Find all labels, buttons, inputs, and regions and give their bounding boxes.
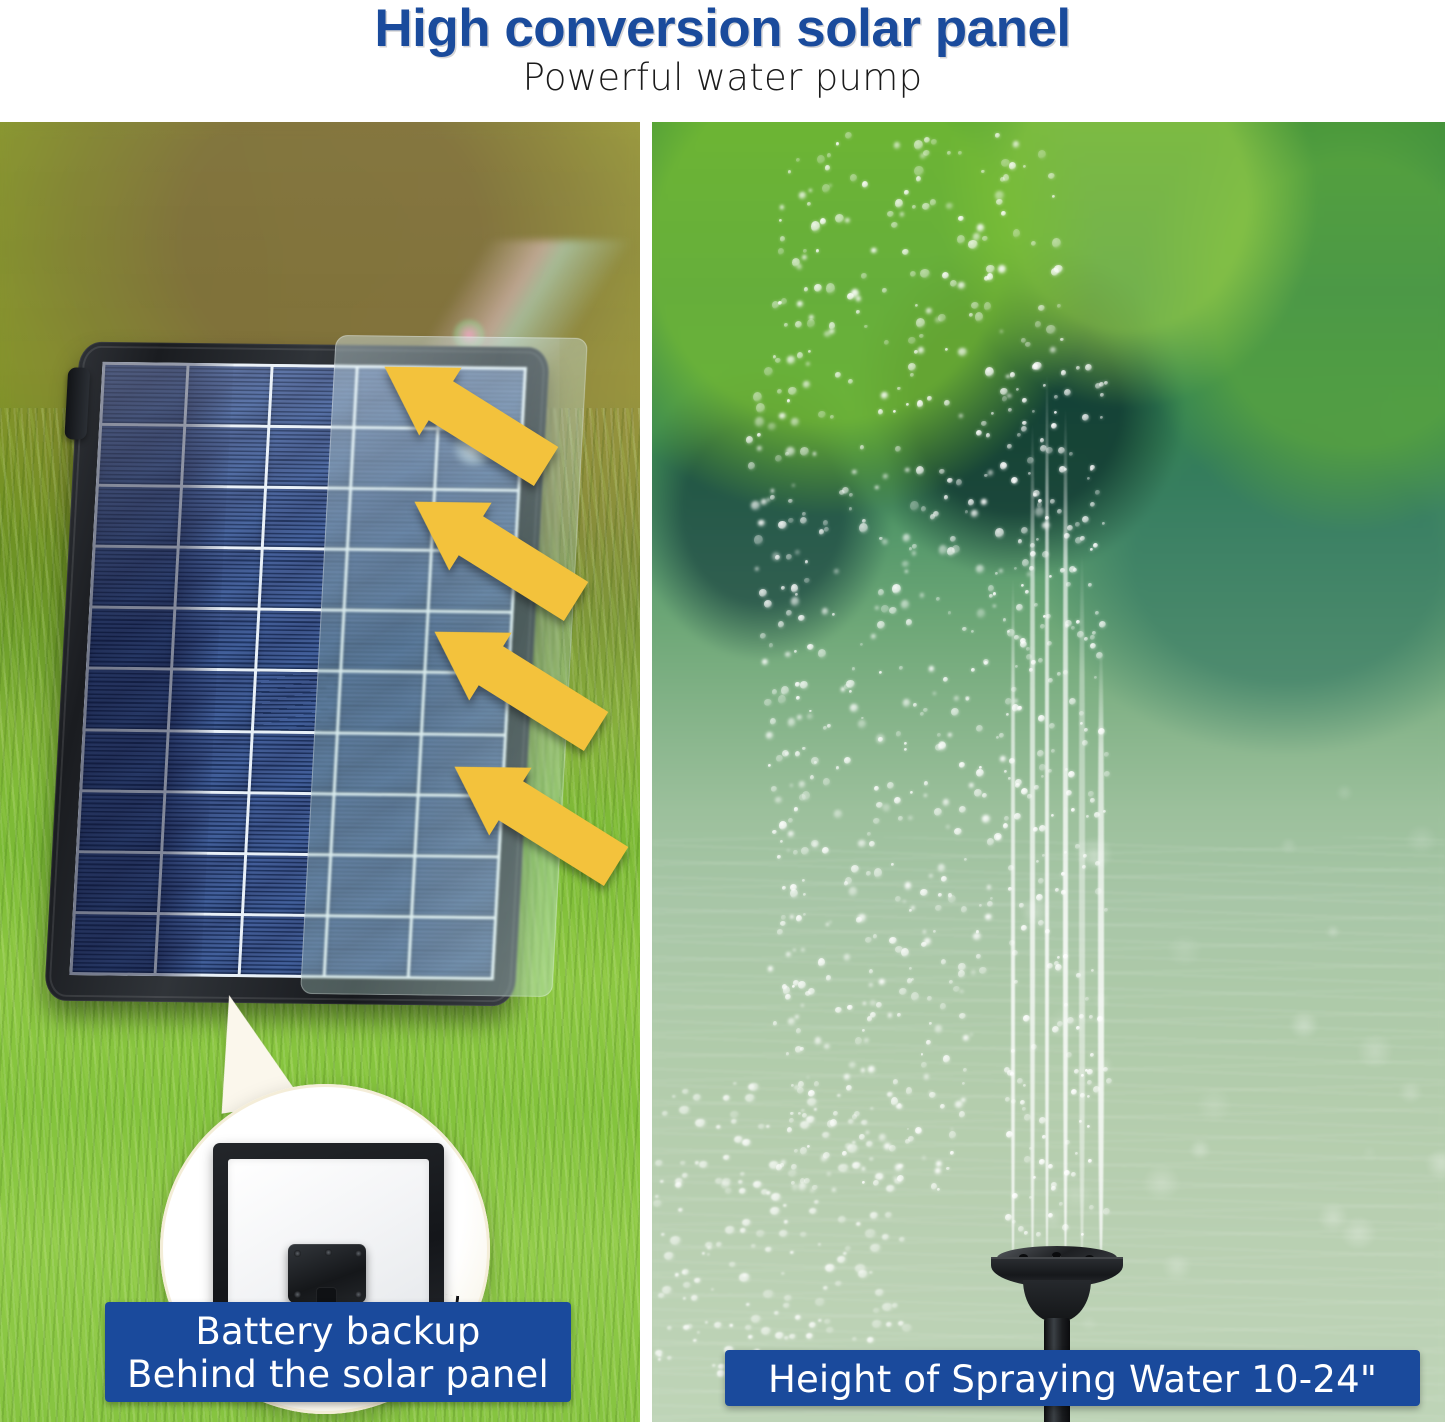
- water-droplet-icon: [849, 1062, 856, 1068]
- water-droplet-icon: [1094, 812, 1100, 818]
- water-droplet-icon: [772, 301, 779, 309]
- water-droplet-icon: [989, 594, 993, 598]
- water-droplet-icon: [849, 493, 853, 497]
- water-droplet-icon: [754, 535, 763, 545]
- water-droplet-icon: [985, 367, 994, 377]
- water-droplet-icon: [1060, 338, 1064, 341]
- water-droplet-icon: [976, 725, 983, 732]
- water-droplet-icon: [908, 363, 916, 371]
- water-droplet-icon: [968, 240, 978, 249]
- water-droplet-icon: [756, 403, 765, 413]
- water-droplet-icon: [950, 536, 956, 542]
- water-droplet-icon: [839, 490, 845, 495]
- water-droplet-icon: [1009, 162, 1016, 170]
- water-droplet-icon: [823, 778, 830, 786]
- page-subtitle: Powerful water pump: [0, 56, 1445, 99]
- water-droplet-icon: [976, 954, 981, 959]
- water-droplet-icon: [788, 387, 797, 395]
- header: High conversion solar panel Powerful wat…: [0, 0, 1445, 122]
- water-droplet-icon: [852, 1162, 861, 1169]
- water-droplet-icon: [814, 284, 822, 292]
- water-droplet-icon: [1003, 823, 1008, 829]
- water-droplet-icon: [788, 170, 791, 174]
- water-droplet-icon: [1057, 672, 1061, 676]
- solar-cell: [173, 610, 257, 669]
- water-droplet-icon: [929, 1091, 932, 1094]
- water-droplet-icon: [986, 433, 990, 438]
- water-droplet-icon: [759, 589, 767, 597]
- bokeh-highlight-icon: [1289, 1012, 1319, 1038]
- water-droplet-icon: [1000, 388, 1008, 395]
- water-droplet-icon: [912, 205, 916, 209]
- water-droplet-icon: [954, 696, 959, 701]
- water-droplet-icon: [952, 545, 960, 554]
- water-droplet-icon: [873, 1308, 880, 1313]
- water-droplet-icon: [1057, 509, 1062, 514]
- water-droplet-icon: [803, 913, 806, 916]
- water-droplet-icon: [866, 871, 871, 876]
- water-droplet-icon: [768, 966, 773, 972]
- water-droplet-icon: [807, 714, 813, 719]
- water-droplet-icon: [864, 325, 868, 328]
- water-droplet-icon: [1051, 268, 1059, 276]
- water-droplet-icon: [1065, 768, 1068, 771]
- water-droplet-icon: [835, 372, 841, 378]
- water-droplet-icon: [963, 1035, 969, 1041]
- water-droplet-icon: [694, 1278, 701, 1283]
- water-droplet-icon: [1021, 338, 1026, 343]
- water-droplet-icon: [855, 1037, 862, 1045]
- water-droplet-icon: [908, 816, 913, 820]
- water-droplet-icon: [906, 403, 909, 406]
- water-droplet-icon: [929, 666, 934, 672]
- solar-cell: [163, 793, 247, 852]
- water-droplet-icon: [810, 775, 814, 780]
- water-droplet-icon: [934, 808, 942, 816]
- water-droplet-icon: [930, 514, 935, 520]
- solar-cell: [79, 792, 163, 851]
- water-droplet-icon: [773, 355, 776, 359]
- water-droplet-icon: [785, 994, 791, 1000]
- water-droplet-icon: [965, 696, 970, 701]
- water-droplet-icon: [961, 906, 967, 913]
- water-droplet-icon: [914, 166, 924, 176]
- water-droplet-icon: [982, 236, 988, 241]
- water-droplet-icon: [937, 1188, 940, 1191]
- water-droplet-icon: [1042, 1135, 1046, 1139]
- water-droplet-icon: [993, 605, 996, 607]
- water-droplet-icon: [788, 818, 793, 823]
- water-droplet-icon: [1023, 165, 1026, 168]
- water-droplet-icon: [738, 1180, 743, 1184]
- water-droplet-icon: [996, 736, 999, 739]
- water-droplet-icon: [691, 1295, 698, 1301]
- water-droplet-icon: [837, 1256, 846, 1263]
- water-droplet-icon: [947, 478, 953, 483]
- water-droplet-icon: [929, 874, 933, 878]
- water-droplet-icon: [814, 1108, 817, 1111]
- water-droplet-icon: [780, 840, 783, 843]
- water-droplet-icon: [850, 704, 858, 712]
- water-droplet-icon: [782, 984, 787, 990]
- water-droplet-icon: [1102, 522, 1105, 525]
- water-droplet-icon: [936, 597, 940, 601]
- water-droplet-icon: [800, 681, 808, 689]
- water-droplet-icon: [865, 1229, 876, 1238]
- water-droplet-icon: [755, 417, 764, 427]
- water-droplet-icon: [970, 1033, 973, 1036]
- water-droplet-icon: [1028, 472, 1031, 475]
- water-droplet-icon: [858, 1270, 868, 1278]
- water-droplet-icon: [830, 1119, 837, 1127]
- water-droplet-icon: [960, 990, 964, 993]
- water-droplet-icon: [788, 518, 794, 523]
- water-droplet-icon: [1040, 624, 1045, 629]
- water-droplet-icon: [795, 1015, 799, 1019]
- water-droplet-icon: [984, 302, 991, 311]
- water-droplet-icon: [803, 893, 806, 896]
- water-droplet-icon: [1088, 583, 1092, 587]
- water-droplet-icon: [953, 986, 960, 992]
- water-droplet-icon: [818, 958, 825, 967]
- water-droplet-icon: [801, 1004, 804, 1007]
- water-droplet-icon: [924, 781, 928, 786]
- page-title: High conversion solar panel: [0, 0, 1445, 59]
- water-droplet-icon: [812, 841, 818, 848]
- water-droplet-icon: [1077, 631, 1084, 638]
- water-droplet-icon: [847, 1005, 853, 1010]
- water-droplet-icon: [793, 949, 796, 951]
- water-droplet-icon: [1021, 426, 1027, 432]
- water-droplet-icon: [964, 858, 967, 861]
- water-droplet-icon: [1039, 1159, 1045, 1165]
- water-droplet-icon: [772, 689, 777, 695]
- water-droplet-icon: [871, 634, 876, 639]
- water-droplet-icon: [982, 793, 987, 798]
- water-droplet-icon: [800, 447, 809, 456]
- water-droplet-icon: [790, 889, 798, 898]
- water-droplet-icon: [795, 751, 800, 757]
- water-droplet-icon: [793, 850, 798, 855]
- water-droplet-icon: [984, 474, 988, 477]
- water-droplet-icon: [1000, 462, 1007, 470]
- water-droplet-icon: [751, 1315, 761, 1323]
- water-droplet-icon: [933, 692, 936, 695]
- water-droplet-icon: [1035, 507, 1044, 517]
- water-jet-stream: [1079, 552, 1086, 1250]
- water-droplet-icon: [807, 319, 815, 328]
- water-droplet-icon: [924, 137, 930, 143]
- water-droplet-icon: [879, 1134, 886, 1141]
- water-droplet-icon: [944, 400, 950, 406]
- water-droplet-icon: [963, 1068, 967, 1072]
- water-droplet-icon: [807, 1076, 809, 1079]
- water-droplet-icon: [1038, 878, 1044, 884]
- water-droplet-icon: [999, 569, 1003, 573]
- water-droplet-icon: [1042, 551, 1049, 558]
- fountain-nozzle: [991, 1246, 1123, 1286]
- water-droplet-icon: [761, 499, 767, 505]
- water-droplet-icon: [805, 560, 808, 564]
- water-droplet-icon: [749, 1083, 759, 1091]
- bokeh-highlight-icon: [1356, 1035, 1394, 1067]
- water-droplet-icon: [801, 948, 805, 952]
- water-droplet-icon: [809, 1322, 816, 1328]
- water-droplet-icon: [1046, 325, 1056, 334]
- water-droplet-icon: [1007, 394, 1012, 398]
- water-droplet-icon: [697, 1331, 700, 1334]
- water-droplet-icon: [799, 781, 805, 788]
- water-droplet-icon: [778, 695, 786, 704]
- bokeh-highlight-icon: [1162, 1254, 1192, 1280]
- water-droplet-icon: [982, 815, 990, 823]
- water-droplet-icon: [807, 1145, 810, 1148]
- water-droplet-icon: [940, 1003, 946, 1010]
- water-droplet-icon: [878, 409, 883, 415]
- water-droplet-icon: [781, 586, 785, 590]
- water-droplet-icon: [805, 991, 811, 996]
- water-droplet-icon: [888, 1013, 892, 1018]
- water-droplet-icon: [730, 1111, 739, 1118]
- water-droplet-icon: [1029, 668, 1033, 672]
- water-droplet-icon: [1018, 539, 1022, 544]
- water-droplet-icon: [876, 1002, 882, 1008]
- water-droplet-icon: [897, 1013, 901, 1017]
- water-droplet-icon: [817, 155, 825, 164]
- water-droplet-icon: [1034, 785, 1039, 790]
- water-droplet-icon: [1097, 1016, 1103, 1022]
- water-droplet-icon: [976, 565, 984, 573]
- water-droplet-icon: [893, 410, 896, 413]
- water-droplet-icon: [841, 687, 845, 692]
- water-droplet-icon: [830, 415, 834, 419]
- water-droplet-icon: [797, 301, 803, 307]
- water-droplet-icon: [780, 921, 786, 926]
- water-droplet-icon: [806, 1116, 815, 1123]
- water-droplet-icon: [871, 248, 877, 253]
- water-droplet-icon: [795, 1315, 801, 1320]
- water-droplet-icon: [829, 322, 835, 330]
- water-droplet-icon: [1069, 452, 1073, 456]
- water-droplet-icon: [911, 978, 914, 981]
- water-droplet-icon: [1054, 961, 1059, 966]
- water-droplet-icon: [988, 470, 993, 476]
- water-droplet-icon: [662, 1111, 668, 1116]
- screw-icon: [355, 1250, 362, 1257]
- water-droplet-icon: [1087, 1069, 1093, 1075]
- water-droplet-icon: [781, 915, 786, 920]
- water-droplet-icon: [962, 1082, 965, 1085]
- solar-cell: [170, 671, 254, 730]
- water-droplet-icon: [905, 1139, 910, 1144]
- water-droplet-icon: [1031, 241, 1036, 246]
- water-droplet-icon: [829, 921, 832, 923]
- water-droplet-icon: [834, 810, 842, 818]
- water-droplet-icon: [882, 1303, 893, 1311]
- water-droplet-icon: [864, 1038, 869, 1043]
- water-droplet-icon: [951, 1128, 953, 1130]
- water-droplet-icon: [788, 499, 793, 503]
- water-droplet-icon: [920, 593, 924, 598]
- water-droplet-icon: [1021, 925, 1027, 931]
- water-droplet-icon: [670, 1236, 681, 1245]
- water-droplet-icon: [1005, 1214, 1012, 1221]
- water-droplet-icon: [779, 413, 786, 419]
- water-droplet-icon: [714, 1322, 722, 1328]
- water-droplet-icon: [849, 507, 852, 511]
- water-droplet-icon: [862, 1167, 865, 1171]
- water-droplet-icon: [849, 887, 857, 896]
- water-droplet-icon: [899, 666, 903, 670]
- water-droplet-icon: [787, 849, 790, 852]
- water-droplet-icon: [893, 1079, 898, 1085]
- water-droplet-icon: [785, 652, 791, 657]
- water-droplet-icon: [807, 1098, 817, 1106]
- water-droplet-icon: [1038, 305, 1045, 311]
- solar-cell: [160, 854, 244, 913]
- water-droplet-icon: [1090, 798, 1095, 803]
- bokeh-highlight-icon: [1195, 1089, 1233, 1121]
- water-droplet-icon: [803, 249, 807, 253]
- water-droplet-icon: [775, 358, 781, 363]
- water-droplet-icon: [770, 718, 776, 725]
- water-droplet-icon: [1086, 815, 1089, 818]
- water-droplet-icon: [957, 235, 965, 244]
- caption-line-1: Battery backup: [105, 1310, 571, 1353]
- water-droplet-icon: [1036, 894, 1043, 901]
- water-droplet-icon: [875, 1173, 884, 1180]
- water-droplet-icon: [922, 203, 930, 210]
- water-droplet-icon: [975, 312, 983, 322]
- water-droplet-icon: [658, 1293, 665, 1298]
- water-droplet-icon: [801, 847, 809, 855]
- water-droplet-icon: [1031, 660, 1036, 665]
- water-droplet-icon: [822, 608, 828, 615]
- water-droplet-icon: [995, 572, 998, 575]
- water-droplet-icon: [1022, 398, 1027, 403]
- water-droplet-icon: [672, 1095, 676, 1098]
- water-droplet-icon: [1082, 516, 1089, 523]
- product-feature-image: High conversion solar panel Powerful wat…: [0, 0, 1445, 1422]
- water-droplet-icon: [969, 783, 974, 788]
- water-droplet-icon: [993, 592, 996, 596]
- water-droplet-icon: [799, 794, 806, 801]
- water-droplet-icon: [786, 1052, 789, 1056]
- water-droplet-icon: [796, 1028, 801, 1034]
- water-droplet-icon: [1080, 722, 1083, 725]
- water-droplet-icon: [1022, 1107, 1026, 1111]
- water-droplet-icon: [742, 1139, 751, 1146]
- water-droplet-icon: [1008, 408, 1012, 412]
- water-droplet-icon: [832, 1188, 836, 1192]
- water-droplet-icon: [874, 868, 882, 878]
- water-droplet-icon: [861, 273, 867, 279]
- water-droplet-icon: [959, 762, 965, 768]
- water-droplet-icon: [916, 318, 925, 328]
- water-droplet-icon: [787, 356, 795, 364]
- water-droplet-icon: [1090, 468, 1093, 471]
- water-droplet-icon: [1019, 903, 1024, 908]
- water-droplet-icon: [909, 967, 912, 970]
- water-droplet-icon: [833, 1111, 838, 1116]
- water-droplet-icon: [788, 1170, 797, 1177]
- water-droplet-icon: [798, 615, 805, 621]
- water-droplet-icon: [779, 219, 782, 222]
- water-droplet-icon: [900, 212, 904, 217]
- water-droplet-icon: [852, 470, 857, 474]
- water-droplet-icon: [1023, 1015, 1030, 1022]
- water-droplet-icon: [986, 265, 995, 273]
- water-droplet-icon: [976, 430, 982, 436]
- water-droplet-icon: [894, 142, 900, 149]
- water-droplet-icon: [951, 708, 959, 716]
- water-droplet-icon: [838, 1216, 846, 1223]
- water-droplet-icon: [1075, 844, 1080, 849]
- water-droplet-icon: [909, 547, 912, 551]
- solar-cell: [102, 365, 186, 424]
- water-droplet-icon: [873, 1180, 879, 1186]
- water-droplet-icon: [949, 1131, 956, 1139]
- water-droplet-icon: [679, 1106, 690, 1114]
- water-droplet-icon: [1007, 1070, 1013, 1076]
- water-droplet-icon: [1002, 396, 1007, 402]
- water-droplet-icon: [1015, 779, 1022, 786]
- water-droplet-icon: [838, 1164, 849, 1172]
- water-droplet-icon: [969, 313, 973, 317]
- water-droplet-icon: [998, 265, 1006, 273]
- water-droplet-icon: [675, 1182, 682, 1188]
- water-droplet-icon: [809, 710, 812, 712]
- water-droplet-icon: [1021, 527, 1028, 534]
- water-droplet-icon: [1048, 1164, 1053, 1169]
- water-droplet-icon: [788, 831, 794, 837]
- water-droplet-icon: [842, 1151, 847, 1156]
- water-droplet-icon: [948, 611, 951, 615]
- water-droplet-icon: [1034, 603, 1038, 607]
- water-droplet-icon: [948, 893, 952, 898]
- water-droplet-icon: [1050, 499, 1055, 504]
- water-droplet-icon: [892, 1303, 898, 1308]
- water-droplet-icon: [920, 712, 924, 716]
- water-droplet-icon: [869, 841, 875, 847]
- water-droplet-icon: [1066, 582, 1071, 587]
- water-droplet-icon: [1065, 1140, 1070, 1145]
- water-droplet-icon: [990, 897, 993, 900]
- water-droplet-icon: [984, 276, 989, 281]
- water-droplet-icon: [882, 288, 887, 293]
- water-droplet-icon: [896, 731, 901, 737]
- water-droplet-icon: [910, 791, 913, 794]
- water-droplet-icon: [775, 797, 782, 803]
- water-droplet-icon: [660, 1180, 664, 1183]
- water-droplet-icon: [965, 510, 968, 514]
- water-droplet-icon: [702, 1252, 705, 1255]
- water-droplet-icon: [926, 308, 932, 314]
- water-droplet-icon: [1095, 490, 1100, 495]
- water-droplet-icon: [790, 915, 794, 919]
- water-droplet-icon: [916, 466, 924, 475]
- water-droplet-icon: [1011, 1049, 1015, 1053]
- water-droplet-icon: [740, 1228, 746, 1233]
- water-droplet-icon: [818, 649, 826, 658]
- water-droplet-icon: [1025, 342, 1031, 347]
- water-droplet-icon: [1085, 1069, 1088, 1072]
- water-droplet-icon: [655, 1195, 659, 1198]
- water-droplet-icon: [705, 1321, 708, 1324]
- water-droplet-icon: [1103, 810, 1106, 813]
- water-droplet-icon: [787, 1127, 792, 1133]
- water-droplet-icon: [776, 755, 783, 762]
